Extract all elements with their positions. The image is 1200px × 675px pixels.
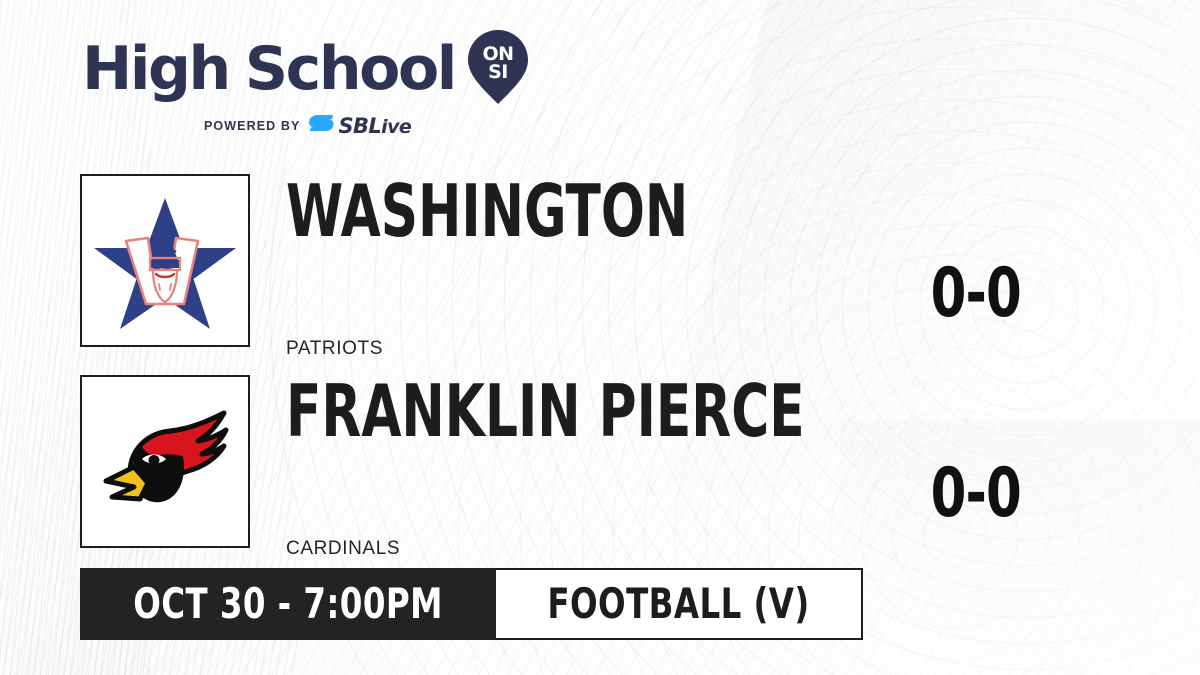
team-mascot-2: CARDINALS: [286, 538, 400, 560]
game-info-bar: OCT 30 - 7:00PM FOOTBALL (V): [80, 568, 863, 640]
pin-text-si: SI: [488, 61, 508, 83]
sblive-bolt-icon: [309, 115, 335, 137]
team-record-1: 0-0: [931, 260, 1021, 328]
game-datetime-block: OCT 30 - 7:00PM: [80, 568, 496, 640]
powered-by-label: POWERED BY: [204, 119, 300, 133]
game-sport-text: FOOTBALL (V): [547, 583, 809, 625]
washington-patriots-logo-icon: [90, 186, 240, 336]
team-logo-box-1: [80, 174, 250, 347]
on-si-pin-icon: ON SI: [468, 30, 528, 104]
sblive-logo: SBLive: [309, 115, 411, 137]
brand-lockup: High School ON SI POWERED BY SBLive: [82, 33, 528, 137]
sblive-wordmark: SBLive: [338, 116, 411, 137]
matchup-graphic: High School ON SI POWERED BY SBLive: [0, 0, 1200, 675]
game-datetime-text: OCT 30 - 7:00PM: [133, 583, 443, 625]
team-logo-box-2: [80, 375, 250, 548]
brand-title-high: High: [82, 39, 229, 99]
brand-title-row: High School ON SI: [82, 33, 528, 104]
game-sport-block: FOOTBALL (V): [496, 568, 863, 640]
team-name-1: WASHINGTON: [286, 175, 688, 247]
powered-by-row: POWERED BY SBLive: [204, 115, 528, 137]
team-mascot-1: PATRIOTS: [286, 338, 383, 360]
franklin-pierce-cardinals-logo-icon: [90, 387, 240, 537]
team-record-2: 0-0: [931, 460, 1021, 528]
brand-title-school: School: [245, 39, 455, 99]
team-name-2: FRANKLIN PIERCE: [286, 375, 805, 447]
